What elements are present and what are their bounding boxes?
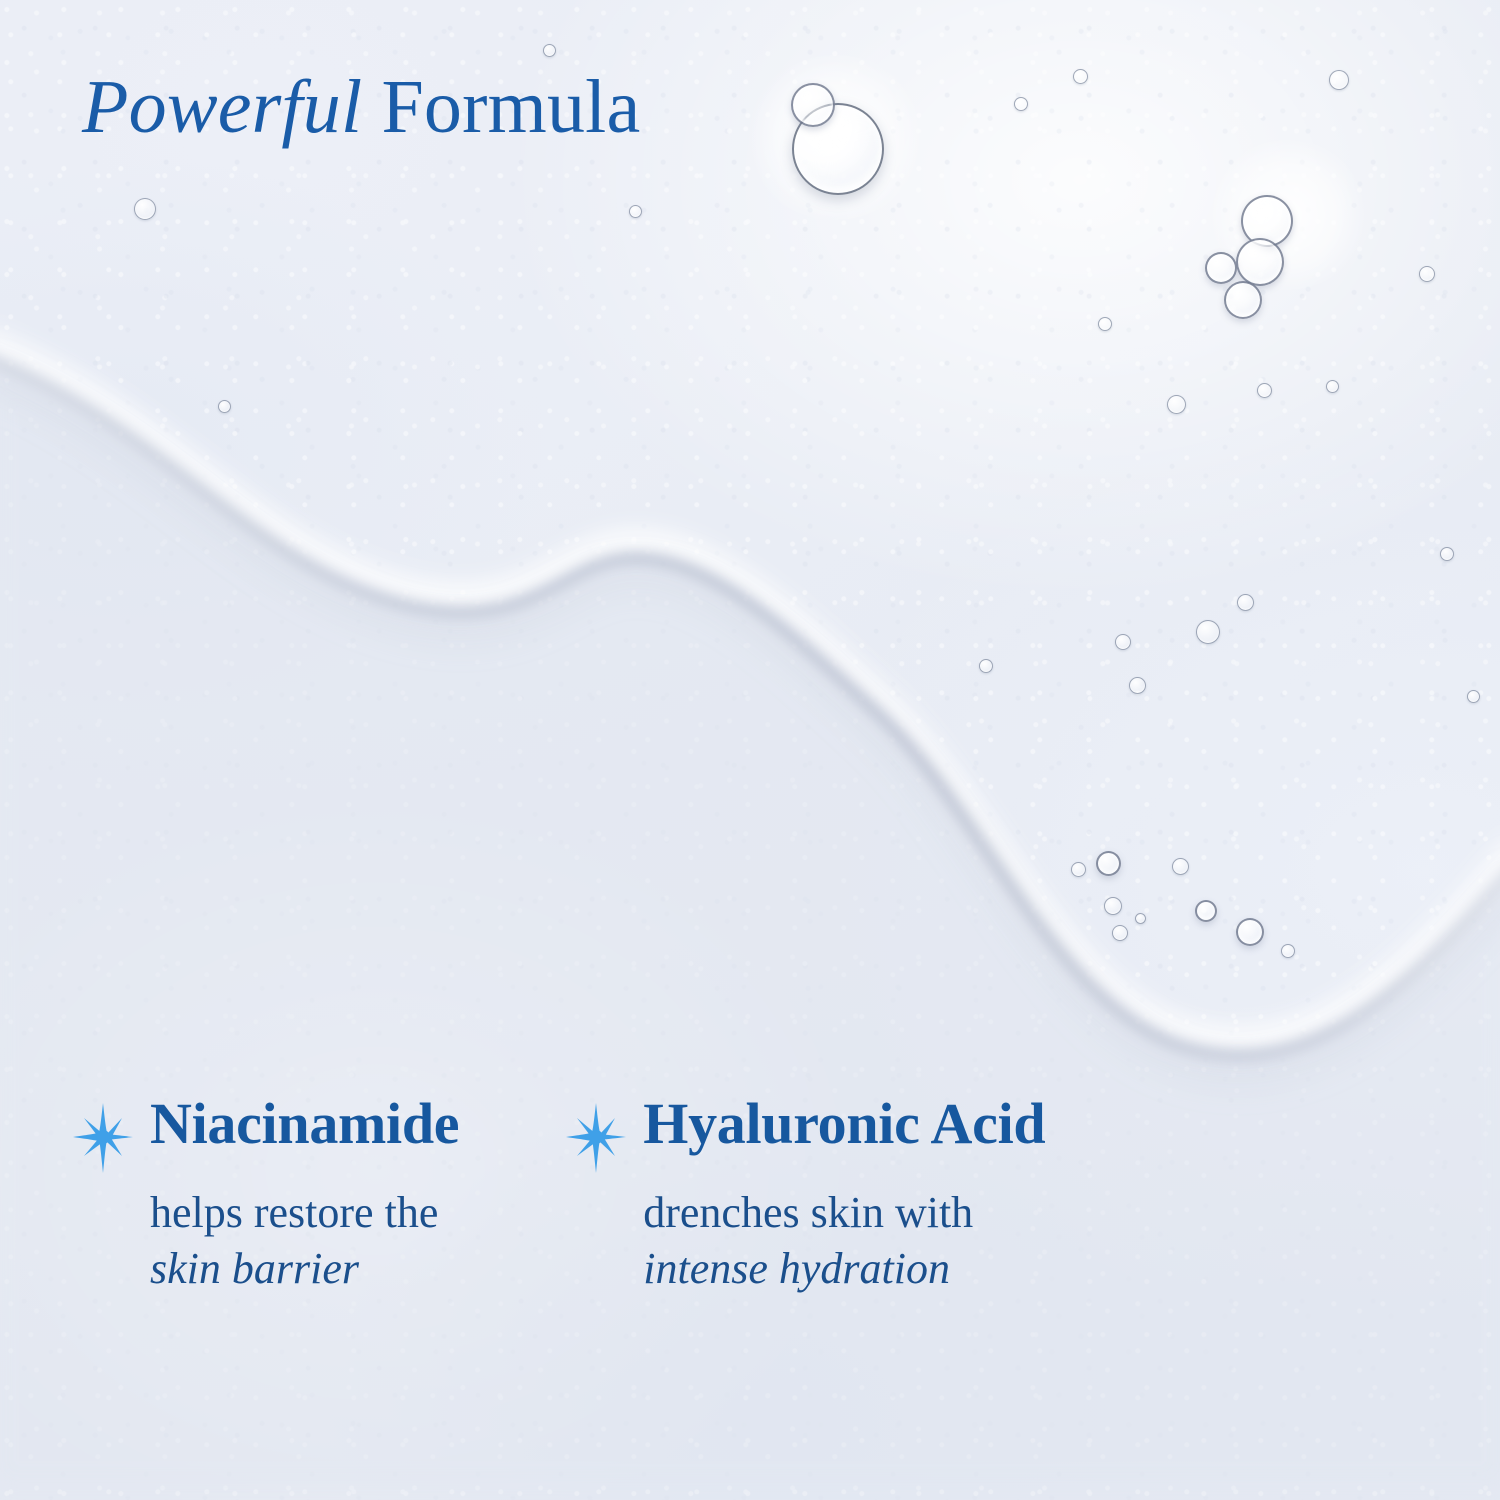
bubble-cluster-d bbox=[1224, 281, 1262, 319]
ingredient-description-line-2: skin barrier bbox=[150, 1241, 459, 1297]
bubble-small bbox=[1440, 547, 1454, 561]
bubble-small bbox=[1281, 944, 1295, 958]
bubble-small bbox=[1467, 690, 1480, 703]
bubble-small bbox=[1098, 317, 1112, 331]
bubble-small bbox=[1326, 380, 1339, 393]
bubble-cluster-c bbox=[1205, 252, 1237, 284]
ingredient-item-hyaluronic-acid: Hyaluronic Acid drenches skin with inten… bbox=[565, 1095, 1045, 1298]
page-title-emphasis: Powerful bbox=[82, 65, 362, 149]
bubble-small bbox=[1237, 594, 1254, 611]
page-title: Powerful Formula bbox=[82, 68, 640, 147]
page-title-rest: Formula bbox=[381, 65, 640, 149]
wave-highlight bbox=[0, 340, 1500, 1040]
bubble-small bbox=[1172, 858, 1189, 875]
ingredient-text-block: Hyaluronic Acid drenches skin with inten… bbox=[643, 1095, 1045, 1298]
ingredient-description-line-1: drenches skin with bbox=[643, 1188, 973, 1237]
bubble-small bbox=[543, 44, 556, 57]
bubble-small bbox=[1329, 70, 1349, 90]
bubble-large-primary bbox=[792, 103, 884, 195]
sparkle-star-icon bbox=[565, 1101, 627, 1175]
bubble-small bbox=[1195, 900, 1217, 922]
bubble-small bbox=[1419, 266, 1435, 282]
bubble-small bbox=[1073, 69, 1088, 84]
ingredient-name: Hyaluronic Acid bbox=[643, 1095, 1045, 1153]
ingredient-item-niacinamide: Niacinamide helps restore the skin barri… bbox=[72, 1095, 459, 1298]
bubble-small bbox=[1257, 383, 1272, 398]
bubble-small bbox=[134, 198, 156, 220]
bubble-small bbox=[1167, 395, 1186, 414]
ingredient-description-line-1: helps restore the bbox=[150, 1188, 438, 1237]
page-title-space bbox=[362, 65, 381, 149]
bubble-small bbox=[1071, 862, 1086, 877]
bubble-cluster-a bbox=[1241, 195, 1293, 247]
bubble-small bbox=[1115, 634, 1131, 650]
bubble-small bbox=[1112, 925, 1128, 941]
bubble-small bbox=[1196, 620, 1220, 644]
product-feature-graphic: Powerful Formula bbox=[0, 0, 1500, 1500]
bubble-small bbox=[1129, 677, 1146, 694]
bubble-small bbox=[1096, 851, 1121, 876]
bubble-small bbox=[1014, 97, 1028, 111]
bubble-large-companion bbox=[791, 83, 835, 127]
bubble-small bbox=[1236, 918, 1264, 946]
ingredient-description: drenches skin with intense hydration bbox=[643, 1185, 1045, 1298]
ingredient-list: Niacinamide helps restore the skin barri… bbox=[72, 1095, 1432, 1298]
ingredient-text-block: Niacinamide helps restore the skin barri… bbox=[150, 1095, 459, 1298]
ingredient-description: helps restore the skin barrier bbox=[150, 1185, 459, 1298]
bubble-small bbox=[1135, 913, 1146, 924]
bubble-cluster-b bbox=[1236, 238, 1284, 286]
ingredient-description-line-2: intense hydration bbox=[643, 1241, 1045, 1297]
bubble-small bbox=[629, 205, 642, 218]
bubble-small bbox=[1104, 897, 1122, 915]
sparkle-star-icon bbox=[72, 1101, 134, 1175]
bubble-halo bbox=[745, 55, 925, 220]
wave-lower-mass bbox=[0, 352, 1500, 1500]
ingredient-name: Niacinamide bbox=[150, 1095, 459, 1153]
bubble-small bbox=[218, 400, 231, 413]
bubble-small bbox=[979, 659, 993, 673]
wave-shadow-echo bbox=[0, 372, 1500, 1074]
bubble-cluster-halo bbox=[1208, 140, 1368, 290]
wave-shadow-line bbox=[0, 356, 1500, 1056]
